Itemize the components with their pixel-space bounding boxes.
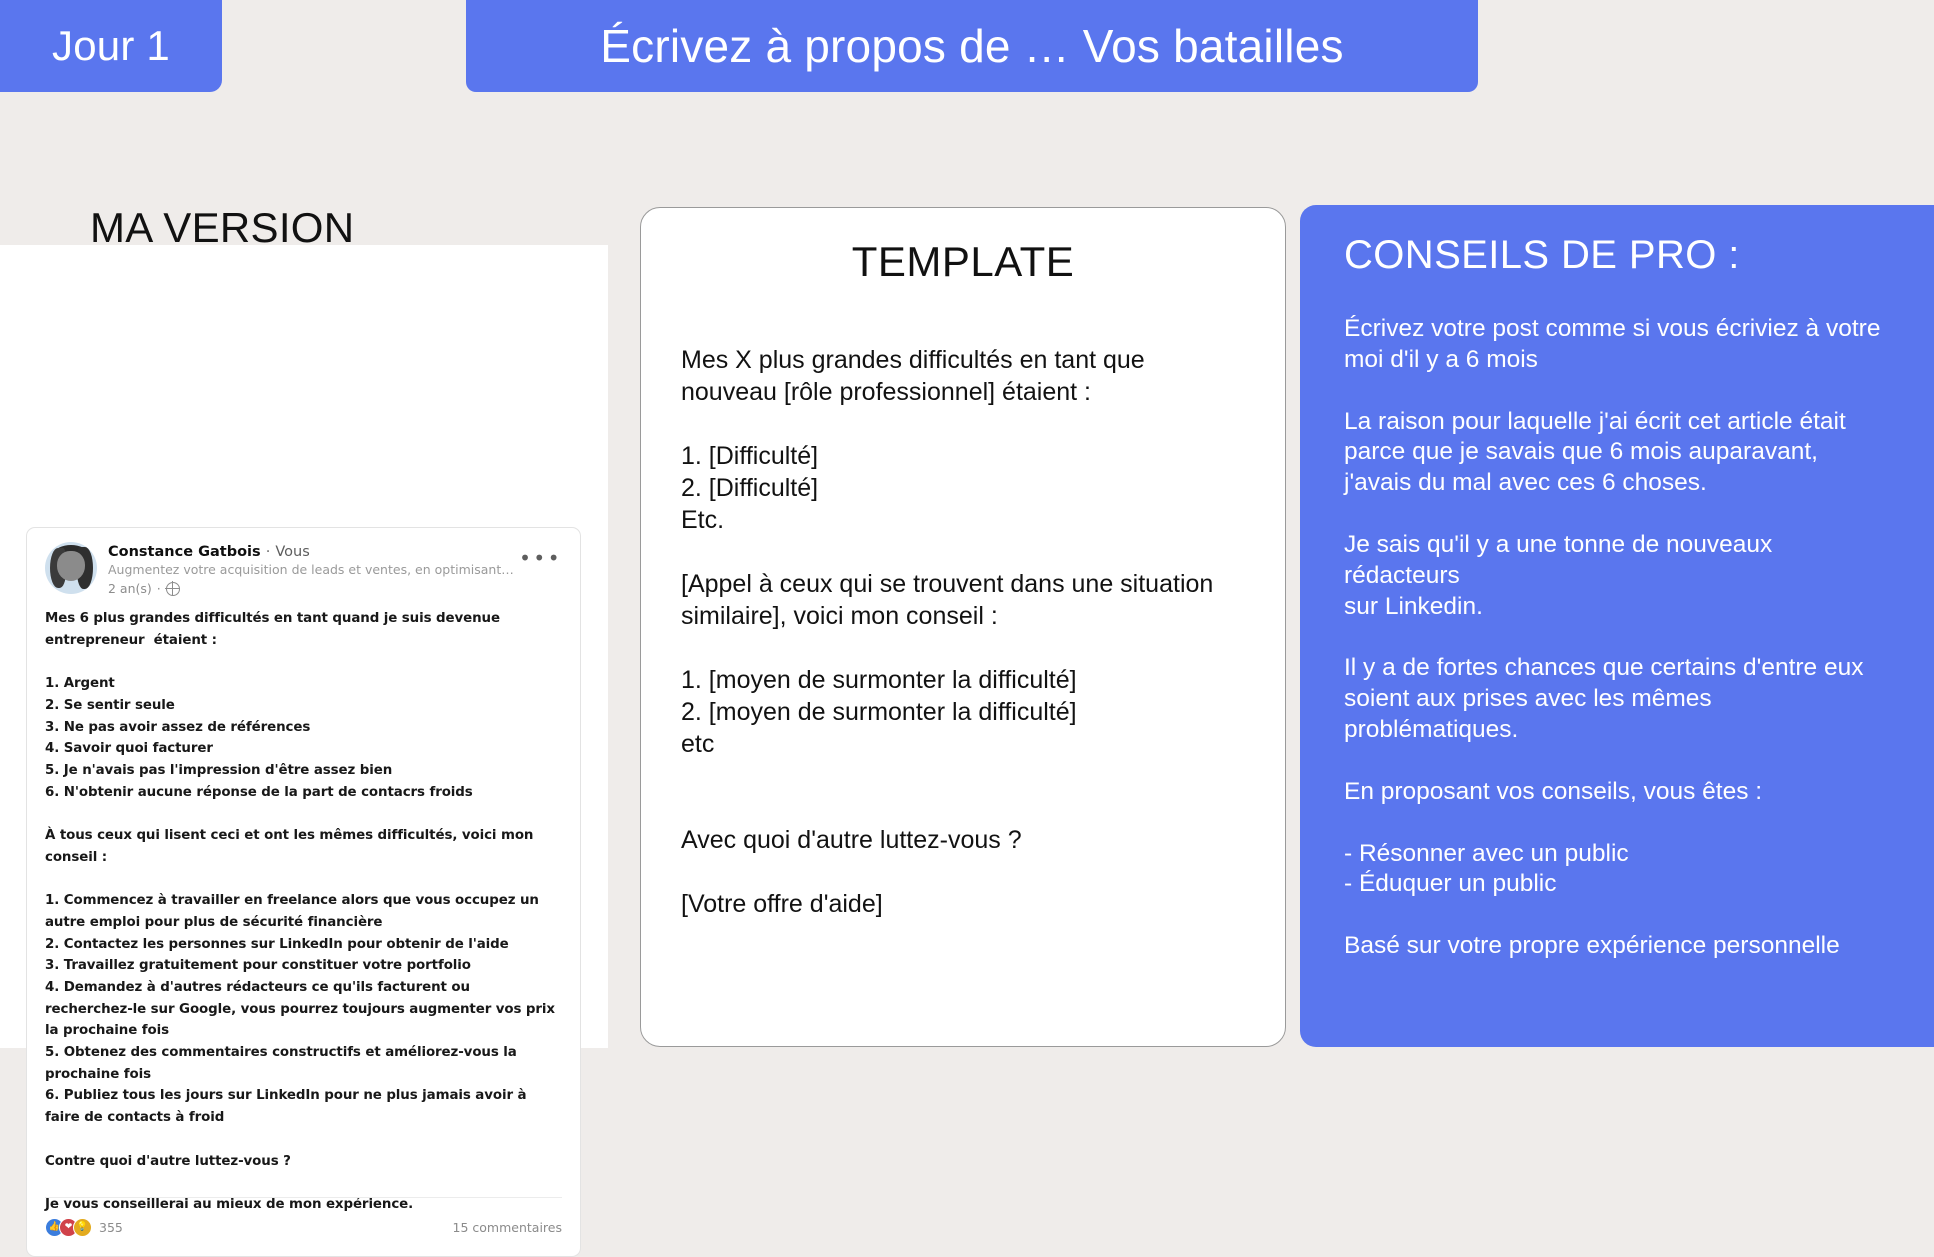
ellipsis-icon[interactable]: •••	[519, 548, 562, 568]
insight-bulb-icon: 💡	[73, 1218, 92, 1237]
avatar	[45, 542, 97, 594]
comments-count[interactable]: 15 commentaires	[453, 1220, 562, 1235]
template-body: Mes X plus grandes difficultés en tant q…	[681, 344, 1245, 920]
post-body: Mes 6 plus grandes difficultés en tant q…	[45, 608, 562, 1216]
author-separator: ·	[266, 544, 271, 560]
globe-icon	[166, 582, 180, 596]
avatar-face	[57, 551, 85, 581]
pro-tips-heading: CONSEILS DE PRO :	[1344, 233, 1890, 278]
author-name: Constance Gatbois	[108, 544, 261, 560]
author-line: Constance Gatbois · Vous	[108, 543, 562, 561]
reactions-count: 355	[99, 1220, 123, 1235]
template-card: TEMPLATE Mes X plus grandes difficultés …	[640, 207, 1286, 1047]
post-header: Constance Gatbois · Vous Augmentez votre…	[45, 542, 562, 596]
day-banner: Jour 1	[0, 0, 222, 92]
post-timestamp-row: 2 an(s) ·	[108, 581, 562, 596]
post-timestamp: 2 an(s)	[108, 581, 152, 596]
reaction-icon-stack: 👍 ❤ 💡	[45, 1218, 92, 1237]
post-social-footer: 👍 ❤ 💡 355 15 commentaires	[45, 1197, 562, 1256]
author-tagline: Augmentez votre acquisition de leads et …	[108, 562, 562, 579]
my-version-panel: Constance Gatbois · Vous Augmentez votre…	[0, 245, 608, 1048]
day-label: Jour 1	[52, 22, 170, 70]
template-heading: TEMPLATE	[681, 238, 1245, 286]
pro-tips-body: Écrivez votre post comme si vous écrivie…	[1344, 314, 1890, 962]
linkedin-post-card: Constance Gatbois · Vous Augmentez votre…	[26, 527, 581, 1257]
timestamp-separator: ·	[157, 581, 161, 596]
post-author-meta: Constance Gatbois · Vous Augmentez votre…	[108, 542, 562, 596]
author-relation: Vous	[275, 544, 309, 560]
page-title: Écrivez à propos de … Vos batailles	[600, 19, 1343, 73]
title-banner: Écrivez à propos de … Vos batailles	[466, 0, 1478, 92]
reactions-group[interactable]: 👍 ❤ 💡 355	[45, 1218, 123, 1237]
pro-tips-panel: CONSEILS DE PRO : Écrivez votre post com…	[1300, 205, 1934, 1047]
